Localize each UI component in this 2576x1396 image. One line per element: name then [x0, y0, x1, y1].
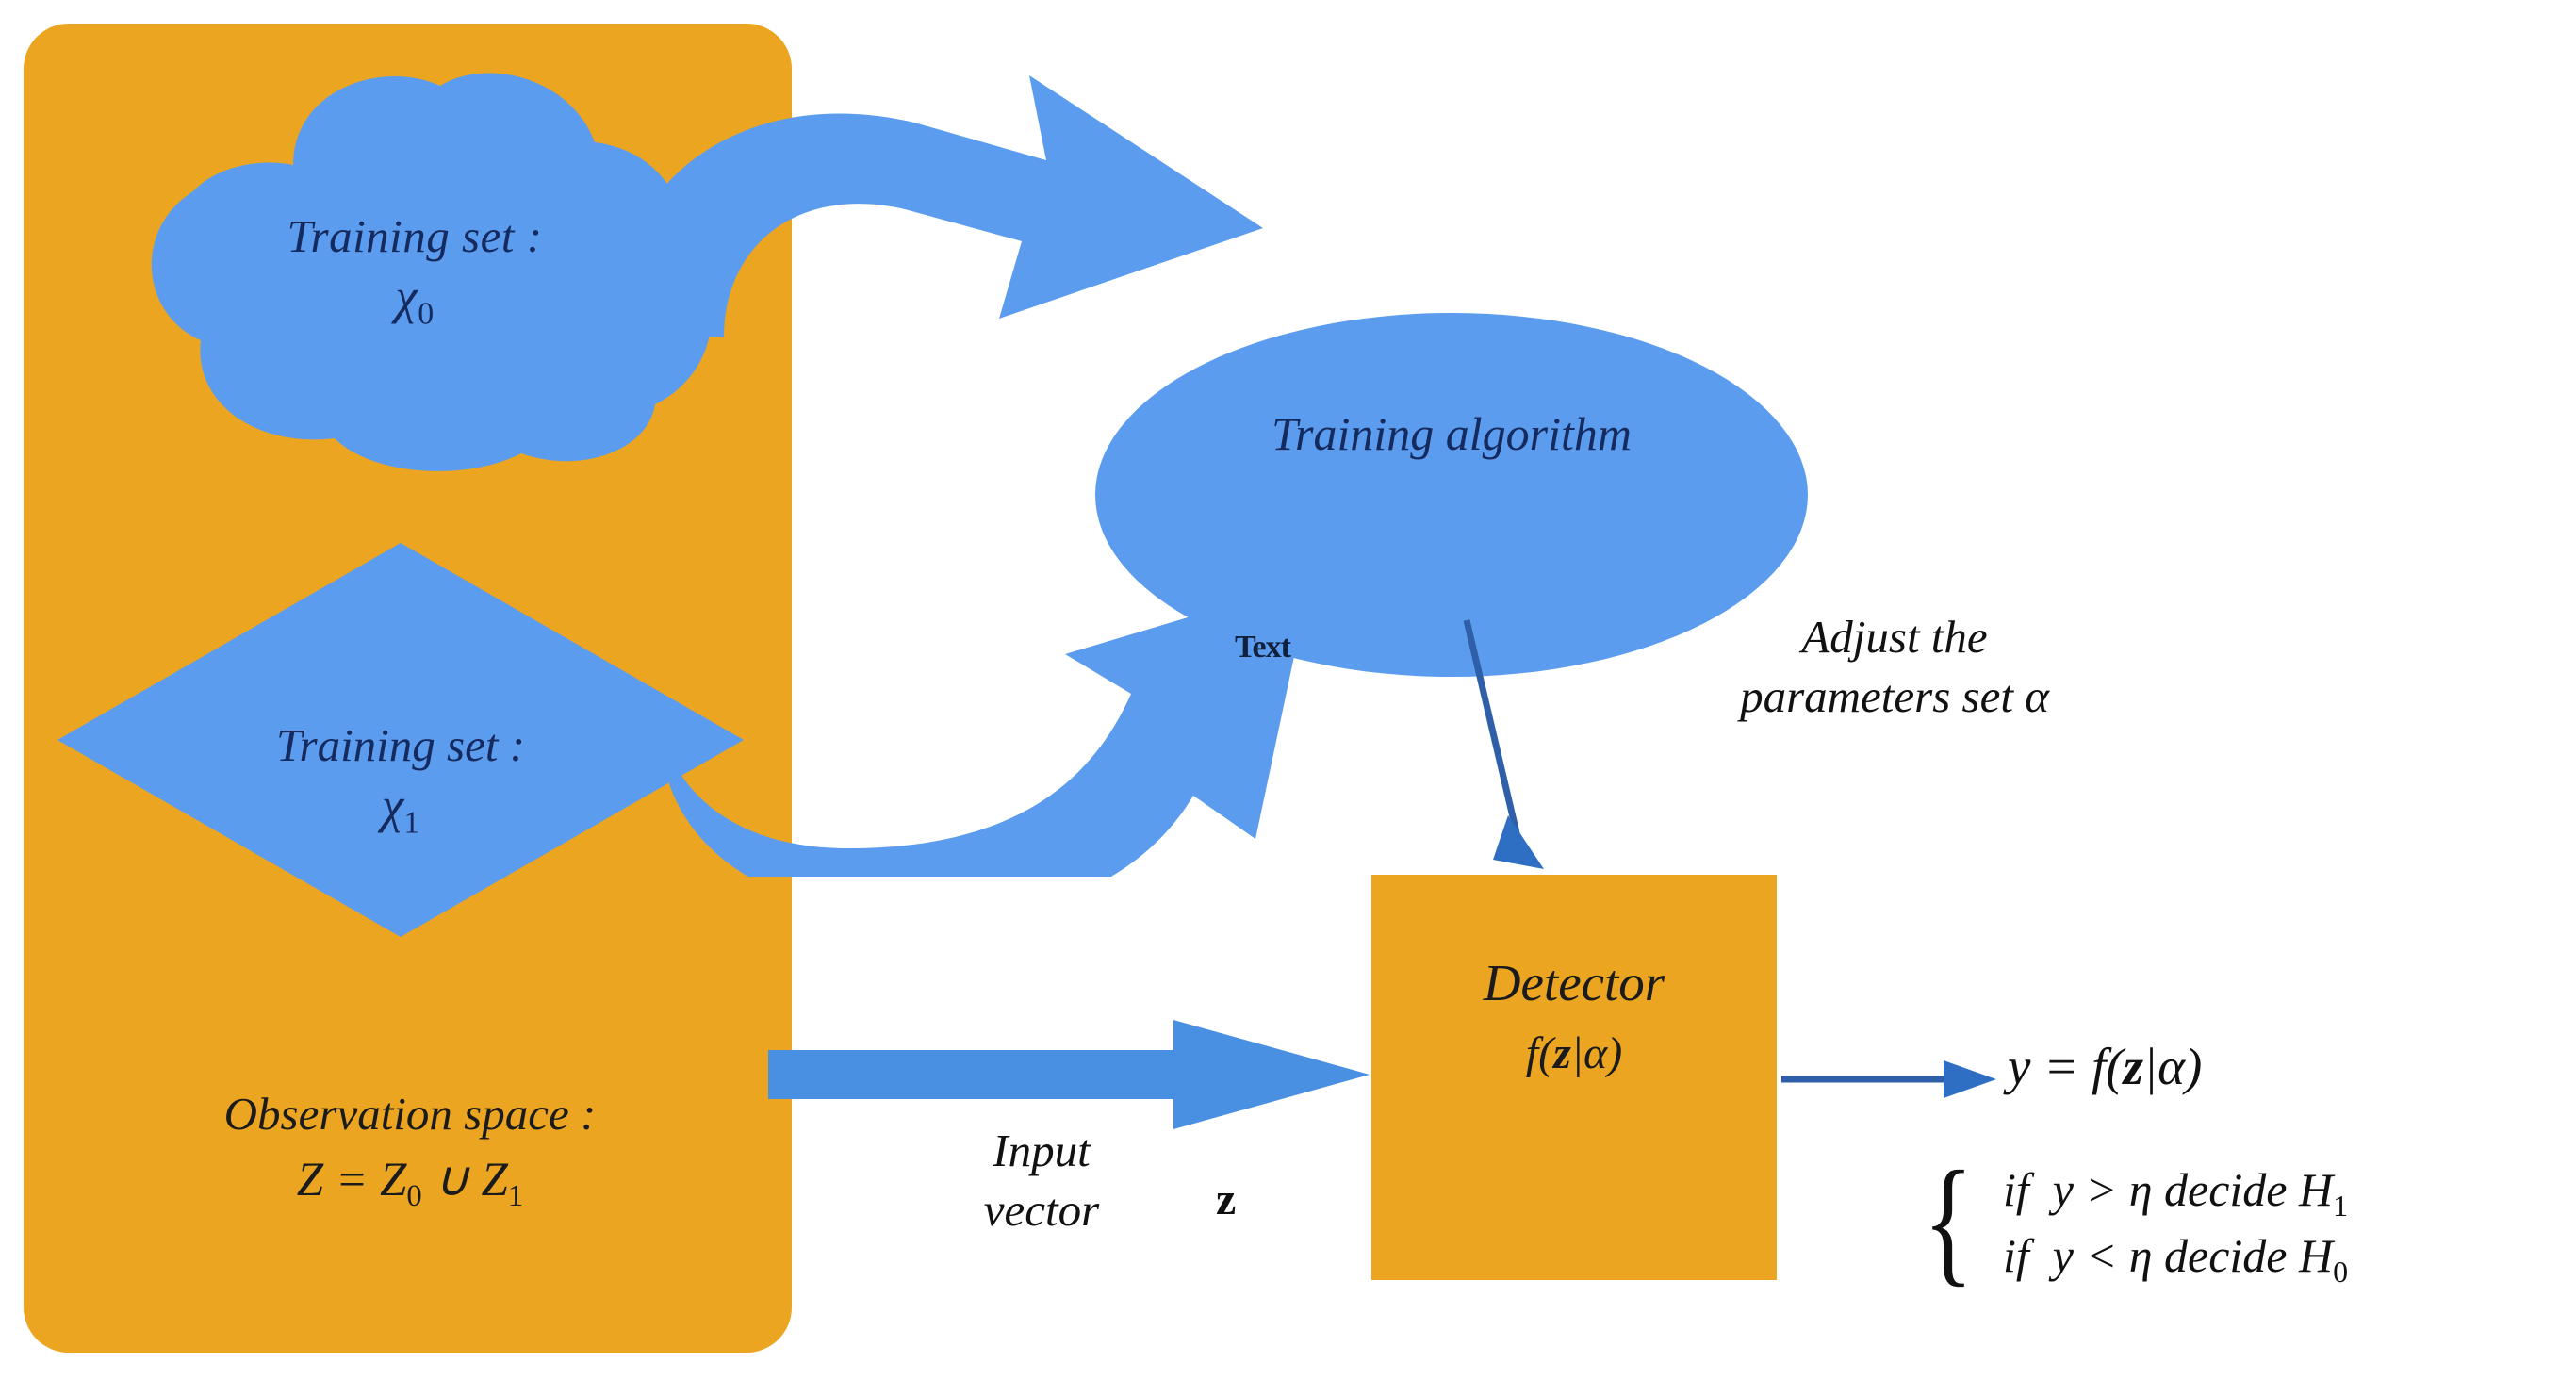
input-vector-label: Input vector: [905, 1122, 1178, 1240]
observation-space-label: Observation space : Z = Z0 ∪ Z1: [38, 1089, 782, 1214]
brace-glyph: {: [1923, 1154, 1974, 1289]
observation-space-line1: Observation space :: [224, 1088, 597, 1140]
decision-rule-lines: if y > η decide H1 if y < η decide H0: [2003, 1159, 2545, 1291]
decision-rule-h0: if y < η decide H0: [2003, 1225, 2545, 1291]
diamond-shape-training-set-1: [52, 537, 749, 943]
decision-rule-h1: if y > η decide H1: [2003, 1159, 2545, 1225]
stray-text-label: Text: [1235, 630, 1290, 665]
adjust-note-line2: parameters set α: [1546, 667, 2243, 727]
decision-rules: { if y > η decide H1 if y < η decide H0: [1923, 1159, 2545, 1348]
diagram-canvas: Training set : χ0 Training set : χ1 Obse…: [0, 0, 2576, 1396]
input-label-line1: Input: [993, 1125, 1090, 1176]
output-arrow-icon: [1781, 1051, 1998, 1108]
adjust-parameters-note: Adjust the parameters set α: [1546, 608, 2243, 726]
input-label-line2: vector: [984, 1184, 1099, 1236]
detector-box: [1371, 875, 1777, 1280]
input-vector-symbol: z: [1216, 1174, 1236, 1225]
output-equation: y = f(z|α): [2008, 1037, 2202, 1096]
input-arrow-icon: [768, 1018, 1371, 1131]
observation-space-line2: Z = Z0 ∪ Z1: [38, 1154, 782, 1214]
adjust-note-line1: Adjust the: [1546, 608, 2243, 667]
